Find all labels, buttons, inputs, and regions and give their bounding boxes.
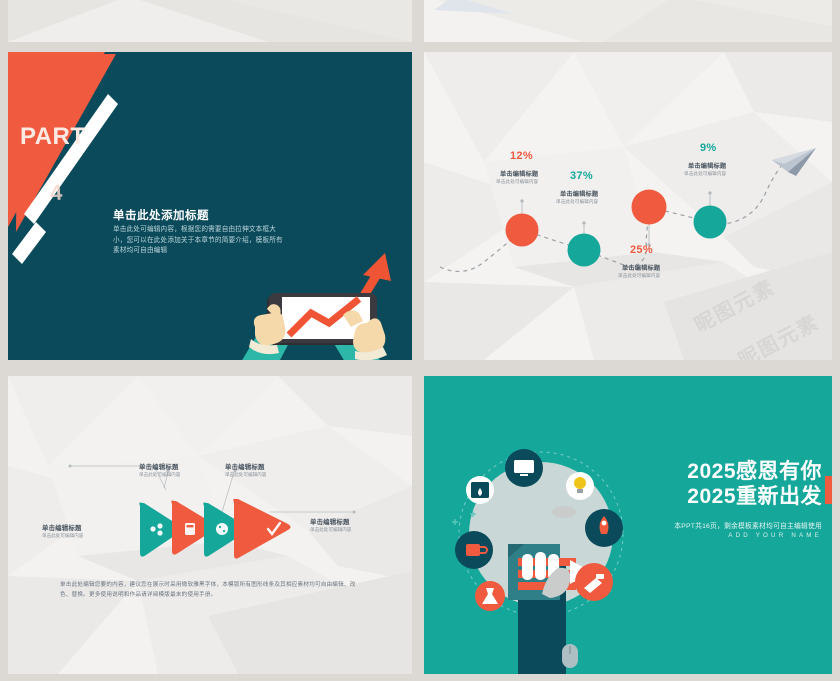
chevron-label-title-3: 单击编辑标题 <box>225 462 265 471</box>
thank-you-title-line2: 2025重新出发 <box>662 484 822 509</box>
process-note-text: 单击此处编辑您要的内容，建议您在展示时采用微软雅黑字体，本模版所有图形线条及其相… <box>60 581 360 600</box>
chevron-label-title-4: 单击编辑标题 <box>310 517 350 526</box>
data-label-sub-2: 单击此处可编辑内容 <box>556 199 598 205</box>
slide-gallery: PART 4 单击此处添加标题 单击此处可编辑内容，根据您的需要自由拉伸文本框大… <box>0 0 840 681</box>
data-label-title-2: 单击编辑标题 <box>560 189 598 198</box>
data-label-sub-3: 单击此处可编辑内容 <box>618 273 660 279</box>
chevron-label-title-2: 单击编辑标题 <box>139 462 179 471</box>
paper-plane-icon <box>772 148 816 176</box>
polygon-background <box>8 0 412 42</box>
data-label-percent-1: 12% <box>510 150 533 162</box>
accent-bar <box>825 476 832 504</box>
data-label-percent-3: 25% <box>630 244 653 256</box>
cloud-icon <box>552 506 576 518</box>
chevron-label-sub-1: 单击此处可编辑内容 <box>42 533 83 539</box>
thank-you-title-line1: 2025感恩有你 <box>662 459 822 484</box>
thank-you-subtitle: 本PPT共16页，剩余模板素材均可自主编辑使用 <box>624 520 822 530</box>
slide-process-chevrons[interactable]: 单击编辑标题 单击此处可编辑内容 单击编辑标题 单击此处可编辑内容 单击编辑标题… <box>8 376 412 674</box>
chevron-step-4 <box>233 499 290 559</box>
chart-plot-area <box>424 52 832 360</box>
data-point-bubble-2 <box>568 234 601 267</box>
data-label-title-3: 单击编辑标题 <box>622 263 660 272</box>
chevron-label-sub-4: 单击此处可编辑内容 <box>310 527 351 533</box>
chevron-label-sub-2: 单击此处可编辑内容 <box>139 472 180 478</box>
slide-section-divider[interactable]: PART 4 单击此处添加标题 单击此处可编辑内容，根据您的需要自由拉伸文本框大… <box>8 52 412 360</box>
slide-thumb-partial-right[interactable] <box>424 0 832 42</box>
data-label-title-1: 单击编辑标题 <box>500 169 538 178</box>
chevron-label-title-1: 单击编辑标题 <box>42 523 82 532</box>
slide-thank-you[interactable]: 2025感恩有你 2025重新出发 本PPT共16页，剩余模板素材均可自主编辑使… <box>424 376 832 674</box>
part-label: PART <box>20 124 86 150</box>
hand-book-illustration <box>446 426 636 674</box>
chevron-arrow-group <box>136 499 296 561</box>
data-point-bubble-3 <box>632 190 667 225</box>
part-number: 4 <box>49 180 63 207</box>
data-label-percent-2: 37% <box>570 170 593 182</box>
tablet-illustration <box>233 247 412 360</box>
thank-you-title: 2025感恩有你 2025重新出发 <box>662 459 822 509</box>
data-point-bubble-1 <box>506 214 539 247</box>
chevron-label-sub-3: 单击此处可编辑内容 <box>225 472 266 478</box>
data-label-sub-4: 单击此处可编辑内容 <box>684 171 726 177</box>
add-your-name-placeholder: ADD YOUR NAME <box>624 532 822 539</box>
slide-thumb-partial-left[interactable] <box>8 0 412 42</box>
data-label-sub-1: 单击此处可编辑内容 <box>496 179 538 185</box>
page-title: 单击此处添加标题 <box>113 207 209 223</box>
data-label-percent-4: 9% <box>700 142 717 154</box>
slide-percentage-chart[interactable]: 12% 单击编辑标题 单击此处可编辑内容 37% 单击编辑标题 单击此处可编辑内… <box>424 52 832 360</box>
data-point-bubble-4 <box>694 206 727 239</box>
data-label-title-4: 单击编辑标题 <box>688 161 726 170</box>
polygon-background <box>424 0 832 42</box>
